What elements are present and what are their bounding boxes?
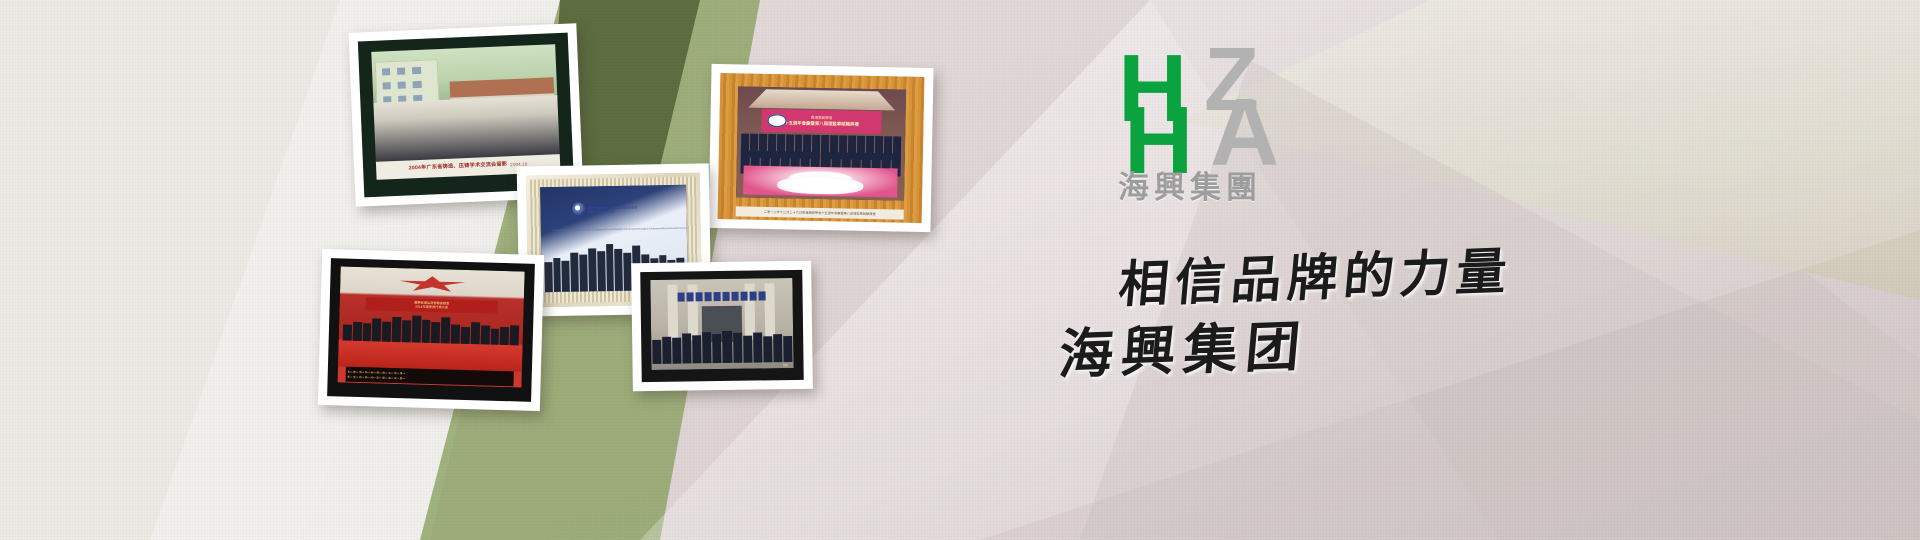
award-swirl-icon — [572, 203, 585, 216]
photo-annual-meeting-red-carpet-2014[interactable]: 廣東省潮汕商會聯誼總會 2014年度會員代表大會 黃×× 陳×× 李×× 林××… — [318, 249, 544, 411]
slogan-line-1: 相信品牌的力量 — [1116, 231, 1516, 317]
stage-banner-line2: 2014年度會員代表大會 — [415, 305, 448, 310]
entrance-sign — [673, 291, 770, 303]
logo-company-name: 海興集團 — [1118, 162, 1318, 207]
brand-slogan: 相信品牌的力量 海興集团 — [1060, 238, 1530, 408]
award-category: Machinery & Equipment Design — [580, 228, 614, 232]
award-category: Technological Achievement — [634, 227, 663, 231]
company-logo[interactable]: H Z H A 海興集團 — [1118, 50, 1418, 220]
photo-headquarters-entrance-group[interactable]: 留影 — [631, 261, 813, 392]
photo-inner: 留影 — [640, 270, 804, 382]
brand-banner: 2004年广东省铸造、压铸学术交流会留影 2004.10 香港潮商學會 十五週年… — [0, 0, 1920, 540]
association-emblem-icon — [767, 114, 787, 127]
group-crowd — [373, 95, 560, 162]
award-category: Consumer Product Design — [552, 229, 580, 232]
award-category: Environmental Performance — [663, 227, 688, 231]
award-banner-text: 香港工業獎 2002 HONG KONG AWARDS FOR INDUSTRY — [587, 202, 637, 215]
slogan-line-2: 海興集团 — [1056, 302, 1312, 390]
award-banner: 香港工業獎 2002 HONG KONG AWARDS FOR INDUSTRY — [572, 200, 663, 217]
photo-content: 廣東省潮汕商會聯誼總會 2014年度會員代表大會 黃×× 陳×× 李×× 林××… — [338, 267, 525, 388]
photo-inner: 廣東省潮汕商會聯誼總會 2014年度會員代表大會 黃×× 陳×× 李×× 林××… — [327, 258, 535, 402]
stage-banner: 香港潮商學會 十五週年會慶暨第八屆理監事就職典禮 — [761, 109, 882, 133]
photo-content: 留影 — [650, 278, 794, 370]
photo-association-anniversary-ceremony[interactable]: 香港潮商學會 十五週年會慶暨第八屆理監事就職典禮 二零一二年十二月二十六日香港潮… — [708, 64, 933, 232]
background-shapes — [0, 0, 1920, 540]
photo-caption-text: 2004年广东省铸造、压铸学术交流会留影 — [409, 163, 508, 172]
logo-lettermarks: H Z H A — [1118, 50, 1298, 168]
name-row-text: 馬×× 朱×× 胡×× 郭×× 何×× 高×× 羅×× 梁×× 宋×× 謝×× — [347, 375, 405, 381]
photo-content: 香港潮商學會 十五週年會慶暨第八屆理監事就職典禮 — [736, 87, 905, 201]
photo-content: 2004年广东省铸造、压铸学术交流会留影 2004.10 — [371, 44, 561, 180]
photo-caption-text: 二零一二年十二月二十六日香港潮商學會十五週年會慶暨第八屆理監事就職典禮 — [764, 209, 876, 216]
ceiling — [748, 89, 896, 111]
stage-banner-line2: 十五週年會慶暨第八屆理監事就職典禮 — [784, 120, 859, 127]
award-category: Quality — [614, 228, 622, 231]
photo-inner: 香港潮商學會 十五週年會慶暨第八屆理監事就職典禮 二零一二年十二月二十六日香港潮… — [718, 73, 925, 223]
award-banner-en-line2: FOR INDUSTRY — [588, 210, 638, 215]
photo-caption-text: 留影 — [783, 363, 788, 367]
logo-letter-a: A — [1210, 94, 1277, 173]
award-category: Productivity — [621, 228, 633, 231]
flower-arrangement — [743, 165, 897, 197]
staff-group — [652, 328, 792, 364]
